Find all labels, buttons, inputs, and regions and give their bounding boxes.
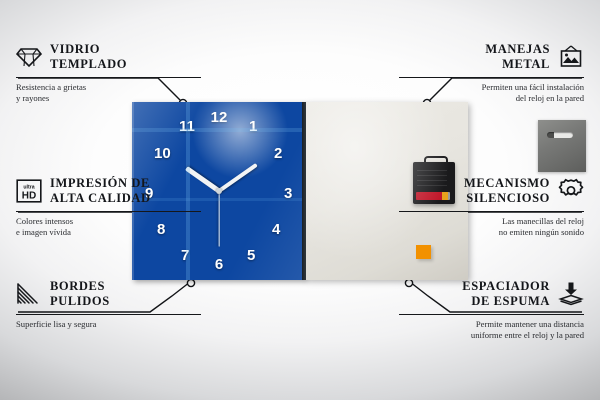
divider [399,77,584,78]
feature-title: BORDESPULIDOS [50,279,110,309]
dial-numeral-6: 6 [215,257,223,272]
feature-desc: Colores intensose imagen vívida [16,216,201,239]
feature-desc: Permiten una fácil instalacióndel reloj … [399,82,584,105]
dial-numeral-2: 2 [274,146,282,161]
feature-mecanismo-silencioso: MECANISMOSILENCIOSO Las manecillas del r… [399,176,584,239]
second-hand [218,191,219,247]
divider [16,211,201,212]
polished-edge-icon [16,281,42,307]
feature-title: VIDRIOTEMPLADO [50,42,127,72]
diamond-icon [16,44,42,70]
divider [16,77,201,78]
movement-hanger-loop [424,156,448,166]
feature-title: ESPACIADORDE ESPUMA [462,279,550,309]
divider [16,314,201,315]
minute-hand [218,163,258,193]
dial-numeral-12: 12 [211,110,228,125]
gear-icon [558,178,584,204]
dial-numeral-1: 1 [249,119,257,134]
hanger-keyhole-slot [547,132,573,138]
dial-numeral-10: 10 [154,146,171,161]
feature-espaciador-espuma: ESPACIADORDE ESPUMA Permite mantener una… [399,279,584,342]
infographic-stage: 12 1 2 3 4 5 6 7 8 9 10 11 [0,0,600,400]
dial-numeral-5: 5 [247,248,255,263]
metal-hanger-plate [538,120,586,172]
feature-manejas-metal: MANEJASMETAL Permiten una fácil instalac… [399,42,584,105]
hands-center-cap [216,188,222,194]
divider [399,314,584,315]
spacer-arrow-icon [558,281,584,307]
feature-desc: Las manecillas del relojno emiten ningún… [399,216,584,239]
divider [399,211,584,212]
feature-impresion-alta-calidad: ultra HD IMPRESIÓN DEALTA CALIDAD Colore… [16,176,201,239]
svg-text:HD: HD [22,190,36,201]
feature-bordes-pulidos: BORDESPULIDOS Superficie lisa y segura [16,279,201,330]
feature-desc: Superficie lisa y segura [16,319,201,331]
foam-spacer [416,245,431,259]
dial-numeral-7: 7 [181,248,189,263]
feature-title: MECANISMOSILENCIOSO [464,176,550,206]
ultra-hd-icon: ultra HD [16,178,42,204]
feature-title: IMPRESIÓN DEALTA CALIDAD [50,176,151,206]
feature-desc: Resistencia a grietasy rayones [16,82,201,105]
feature-vidrio-templado: VIDRIOTEMPLADO Resistencia a grietasy ra… [16,42,201,105]
dial-numeral-4: 4 [272,222,280,237]
feature-title: MANEJASMETAL [485,42,550,72]
picture-frame-hanger-icon [558,44,584,70]
dial-numeral-3: 3 [284,186,292,201]
feature-desc: Permite mantener una distanciauniforme e… [399,319,584,342]
dial-numeral-11: 11 [179,119,195,134]
